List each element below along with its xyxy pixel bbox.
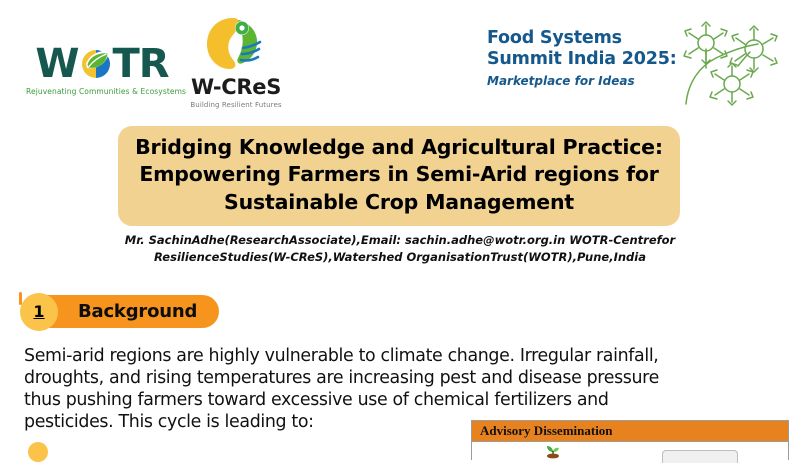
background-paragraph-line2: droughts, and rising temperatures are in…	[24, 368, 796, 390]
background-paragraph-line1: Semi-arid regions are highly vulnerable …	[24, 346, 796, 368]
author-line1: Mr. SachinAdhe(ResearchAssociate),Email:…	[108, 232, 692, 249]
page-title-line1: Bridging Knowledge and Agricultural Prac…	[132, 134, 666, 161]
section-title-label: Background	[78, 301, 197, 322]
wotr-logo: W TR Rejuvenating Communities & Ecosyste…	[26, 44, 178, 96]
wotr-wordmark: W TR	[26, 44, 178, 84]
wcres-wordmark: W-CReS	[182, 75, 290, 99]
wcres-tagline: Building Resilient Futures	[182, 101, 290, 109]
poster-title-banner: Bridging Knowledge and Agricultural Prac…	[118, 126, 680, 226]
advisory-card-chip	[662, 450, 738, 463]
background-paragraph-line3: thus pushing farmers toward excessive us…	[24, 390, 796, 412]
author-line2: ResilienceStudies(W-CReS),Watershed Orga…	[108, 249, 692, 266]
author-affiliation-block: Mr. SachinAdhe(ResearchAssociate),Email:…	[108, 232, 692, 267]
section-header-background: 1 Background	[22, 292, 219, 330]
section-number-label: 1	[33, 302, 44, 321]
summit-subtitle: Marketplace for Ideas	[487, 74, 677, 88]
dandelion-flowers-icon	[676, 16, 784, 108]
leaf-circle-icon	[78, 46, 114, 82]
sprout-icon	[544, 443, 562, 459]
summit-title-line2: Summit India 2025:	[487, 49, 677, 70]
advisory-card-body	[472, 442, 788, 460]
advisory-dissemination-card: Advisory Dissemination	[471, 420, 789, 460]
poster-canvas: W TR Rejuvenating Communities & Ecosyste…	[0, 0, 800, 450]
summit-lockup: Food Systems Summit India 2025: Marketpl…	[487, 28, 677, 88]
wotr-letters-before: W	[35, 44, 78, 84]
section-header-bar: 1 Background	[22, 295, 219, 328]
header-logo-row: W TR Rejuvenating Communities & Ecosyste…	[0, 0, 800, 118]
bullet-dot-icon	[28, 442, 48, 462]
section-number-badge: 1	[20, 293, 58, 331]
hand-leaf-icon	[199, 14, 273, 74]
advisory-card-title: Advisory Dissemination	[480, 423, 613, 439]
page-title-line2: Empowering Farmers in Semi-Arid regions …	[132, 161, 666, 188]
advisory-card-header: Advisory Dissemination	[472, 421, 788, 442]
wotr-letters-after: TR	[113, 44, 169, 84]
wcres-logo: W-CReS Building Resilient Futures	[182, 14, 290, 109]
summit-title-line1: Food Systems	[487, 28, 677, 49]
wotr-tagline: Rejuvenating Communities & Ecosystems	[26, 87, 178, 96]
page-title-line3: Sustainable Crop Management	[132, 189, 666, 216]
